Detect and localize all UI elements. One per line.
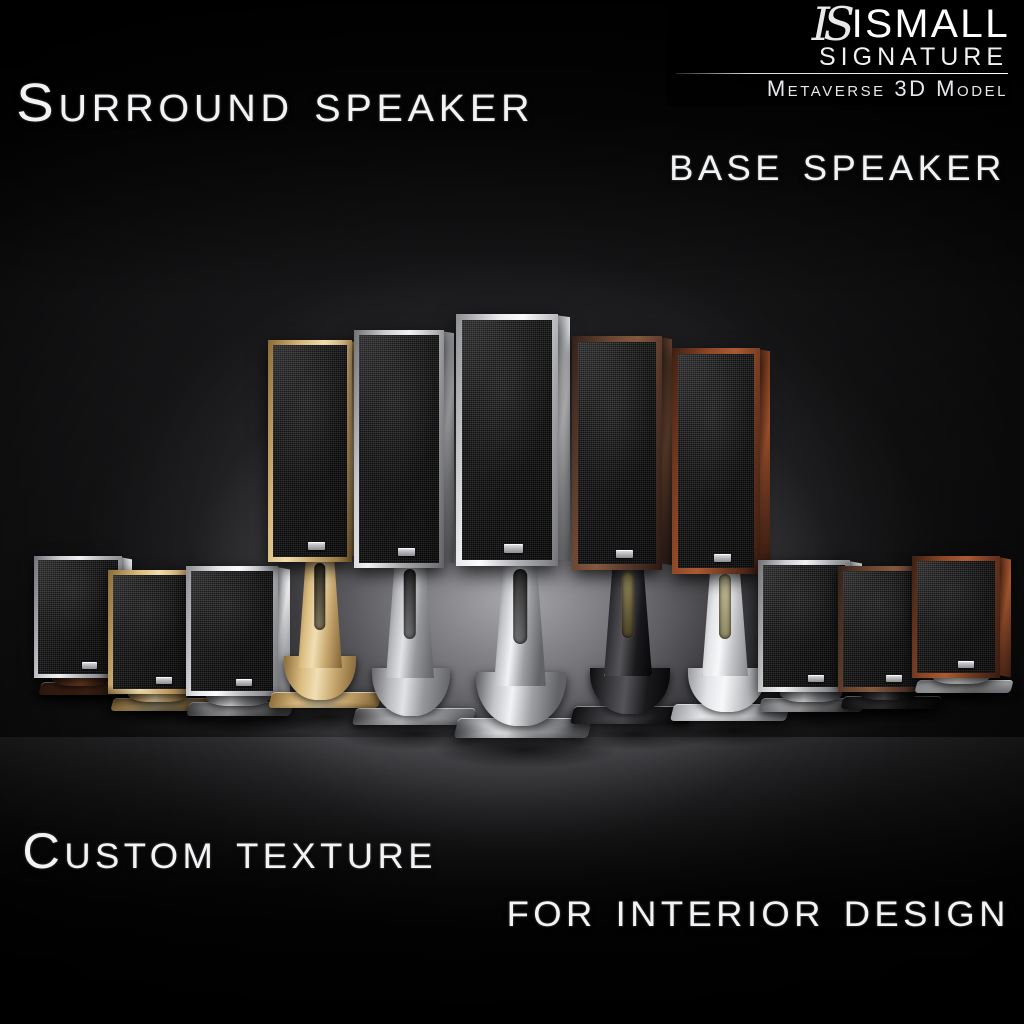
bookshelf-mahogany bbox=[912, 556, 1010, 704]
logo-divider bbox=[676, 73, 1008, 75]
brand-name: ISMALL bbox=[851, 6, 1010, 43]
caption-line-1: Custom texture bbox=[22, 822, 1024, 880]
title-line-2: base speaker bbox=[0, 134, 1006, 192]
tower-walnut bbox=[572, 336, 682, 746]
brand-tagline: Metaverse 3D Model bbox=[676, 76, 1008, 102]
caption-block: Custom texture for interior design bbox=[0, 822, 1024, 938]
tower-brushed-silver bbox=[354, 330, 464, 750]
logo-top-row: IS ISMALL bbox=[676, 6, 1008, 44]
brand-signature: SIGNATURE bbox=[676, 45, 1008, 70]
caption-line-2: for interior design bbox=[0, 880, 1010, 938]
product-showcase-image: Surround speaker base speaker Custom tex… bbox=[0, 0, 1024, 1024]
tower-chrome bbox=[456, 314, 580, 764]
brand-logo: IS ISMALL SIGNATURE Metaverse 3D Model bbox=[666, 4, 1014, 106]
monogram-icon: IS bbox=[812, 6, 849, 44]
